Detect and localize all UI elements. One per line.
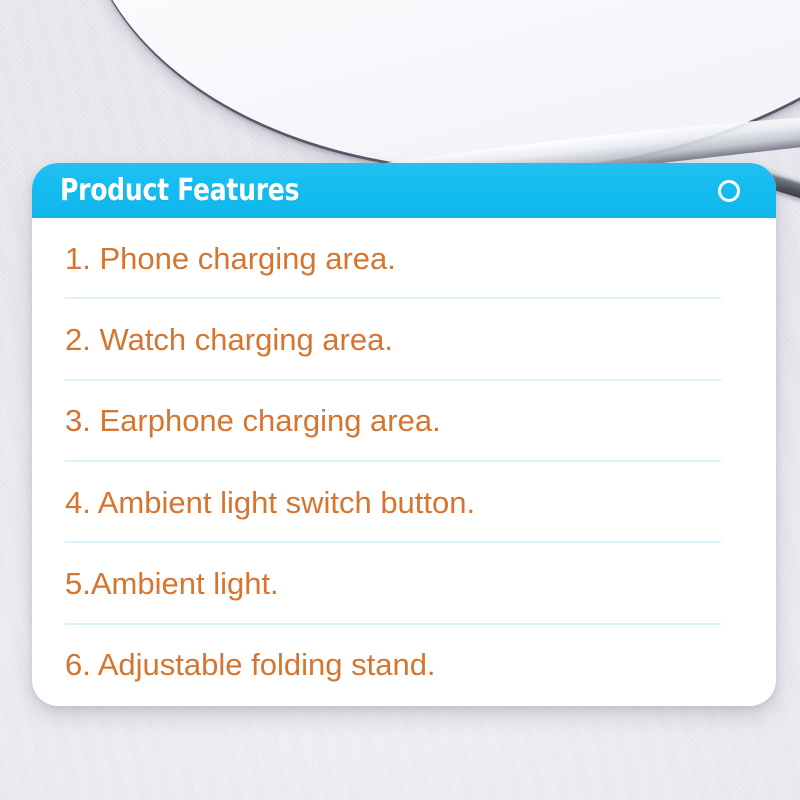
feature-text: 6. Adjustable folding stand.: [65, 648, 436, 682]
power-ring-icon: [718, 180, 740, 202]
feature-text: 4. Ambient light switch button.: [65, 486, 475, 520]
product-features-card: Product Features 1. Phone charging area.…: [32, 163, 776, 706]
list-item: 5.Ambient light.: [32, 543, 776, 624]
card-header: Product Features: [32, 163, 776, 218]
page-title: Product Features: [60, 176, 299, 206]
feature-text: 5.Ambient light.: [65, 567, 279, 601]
feature-text: 1. Phone charging area.: [65, 242, 396, 276]
feature-text: 3. Earphone charging area.: [65, 404, 441, 438]
list-item: 4. Ambient light switch button.: [32, 462, 776, 543]
product-feature-graphic: Product Features 1. Phone charging area.…: [0, 0, 800, 800]
list-item: 1. Phone charging area.: [32, 218, 776, 299]
list-item: 3. Earphone charging area.: [32, 381, 776, 462]
feature-text: 2. Watch charging area.: [65, 323, 393, 357]
list-item: 6. Adjustable folding stand.: [32, 625, 776, 706]
list-item: 2. Watch charging area.: [32, 299, 776, 380]
features-list: 1. Phone charging area. 2. Watch chargin…: [32, 218, 776, 706]
